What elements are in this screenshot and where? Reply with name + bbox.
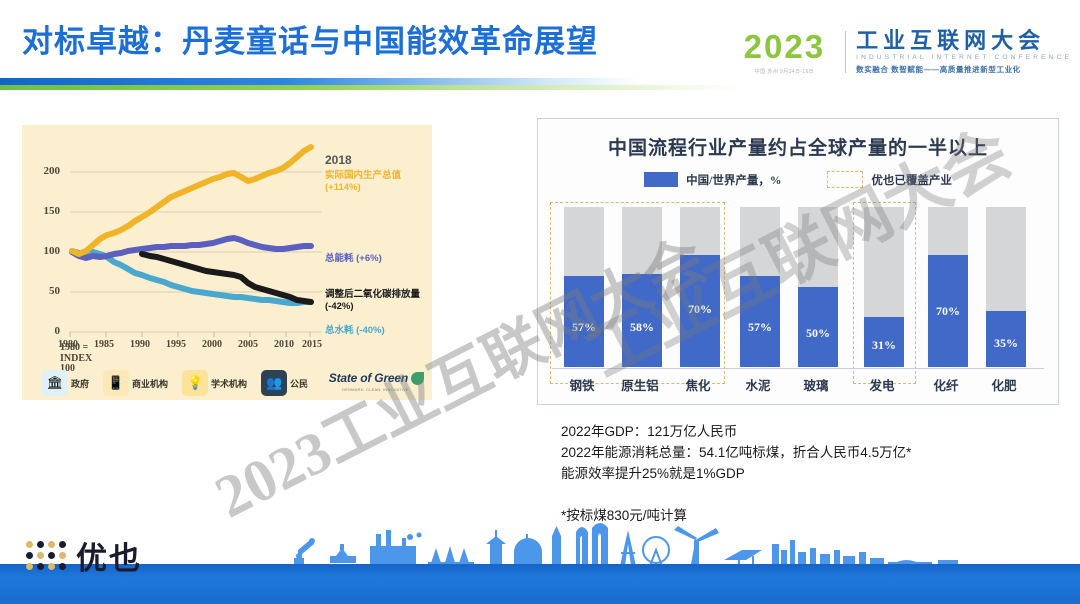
academic-icon: 💡: [182, 370, 208, 396]
category-label-fiber: 化纤: [921, 375, 971, 394]
x-tick-2005: 2005: [238, 339, 258, 350]
bar-value-cement: 57%: [740, 320, 780, 335]
bar-baseline: [552, 368, 1044, 369]
footer-wave-band: [0, 564, 1080, 604]
x-axis-ticks: [70, 332, 310, 337]
actor-academic: 💡 学术机构: [182, 370, 247, 396]
bar-value-aluminum: 58%: [622, 320, 662, 335]
x-tick-1990: 1990: [130, 339, 150, 350]
actor-business: 📱 商业机构: [103, 370, 168, 396]
bar-value-glass: 50%: [798, 326, 838, 341]
header-rule-green: [0, 85, 740, 90]
conference-logo-divider: [845, 31, 846, 73]
header-rule-blue: [0, 78, 640, 85]
legend-energy: 总能耗 (+6%): [325, 253, 382, 265]
conference-year: 2023: [744, 30, 825, 63]
series-energy: [72, 238, 311, 258]
conference-logo: 2023 中国·苏州 9月14日-16日 工业互联网大会 INDUSTRIAL …: [744, 24, 1072, 80]
x-tick-2015: 2015: [302, 339, 322, 350]
legend-gdp: 实际国内生产总值 (+114%): [325, 170, 401, 194]
category-label-power: 发电: [857, 375, 907, 394]
bar-value-fertilizer: 35%: [986, 336, 1026, 351]
notes-block: 2022年GDP：121万亿人民币 2022年能源消耗总量：54.1亿吨标煤，折…: [561, 422, 1031, 524]
conference-name-cn: 工业互联网大会: [856, 29, 1072, 52]
denmark-decoupling-chart: 200 150 100 50 0 1980 1985 1990 1995 200…: [22, 125, 432, 400]
x-tick-1985: 1985: [94, 339, 114, 350]
legend-gdp-label: 实际国内生产总值: [325, 170, 401, 181]
legend-co2: 调整后二氧化碳排放量 (-42%): [325, 289, 420, 313]
y-tick-200: 200: [32, 165, 60, 177]
actor-government: 🏛 政府: [42, 370, 89, 396]
x-tick-1995: 1995: [166, 339, 186, 350]
conference-name-en: INDUSTRIAL INTERNET CONFERENCE: [856, 54, 1072, 61]
bar-value-fiber: 70%: [928, 304, 968, 319]
dot-matrix-icon: [26, 541, 66, 570]
state-of-green-logo: State of Green: [329, 371, 424, 385]
end-year-label: 2018: [325, 153, 352, 167]
gridlines: [70, 172, 322, 332]
bar-value-steel: 57%: [564, 320, 604, 335]
actor-citizen-label: 公民: [290, 377, 308, 390]
category-label-fertilizer: 化肥: [979, 375, 1029, 394]
category-label-cement: 水泥: [733, 375, 783, 394]
slide-footer: 优也: [0, 520, 1080, 604]
note-efficiency: 能源效率提升25%就是1%GDP: [561, 464, 1031, 485]
legend-covered-label: 优也已覆盖产业: [871, 172, 952, 188]
legend-series-label: 中国/世界产量，%: [686, 172, 781, 188]
page-title: 对标卓越：丹麦童话与中国能效革命展望: [22, 16, 598, 61]
series-gdp: [72, 147, 311, 254]
bar-value-power: 31%: [864, 338, 904, 353]
y-tick-50: 50: [32, 285, 60, 297]
y-tick-150: 150: [32, 205, 60, 217]
x-tick-2010: 2010: [274, 339, 294, 350]
actor-citizen: 👥 公民: [261, 370, 308, 396]
government-icon: 🏛: [42, 370, 68, 396]
actor-business-label: 商业机构: [132, 377, 168, 390]
category-label-glass: 玻璃: [791, 375, 841, 394]
chart-title: 中国流程行业产量约占全球产量的一半以上: [538, 133, 1058, 160]
legend-swatch-blue: [644, 172, 678, 187]
conference-slogan: 数实融合 数智赋能——高质量推进新型工业化: [856, 64, 1072, 75]
youye-brand-name: 优也: [76, 533, 142, 578]
slide-header: 对标卓越：丹麦童话与中国能效革命展望 2023 中国·苏州 9月14日-16日 …: [0, 0, 1080, 100]
bar-plot-area: 57% 58% 70% 57% 50% 31%: [560, 207, 1038, 367]
y-tick-0: 0: [32, 325, 60, 337]
legend-item-covered: 优也已覆盖产业: [827, 171, 952, 188]
conference-year-subtitle: 中国·苏州 9月14日-16日: [755, 68, 815, 75]
leaf-icon: [411, 372, 424, 385]
business-icon: 📱: [103, 370, 129, 396]
actor-academic-label: 学术机构: [211, 377, 247, 390]
china-output-share-chart: 中国流程行业产量约占全球产量的一半以上 中国/世界产量，% 优也已覆盖产业 57…: [537, 118, 1059, 405]
bar-value-coking: 70%: [680, 302, 720, 317]
y-tick-100: 100: [32, 245, 60, 257]
legend-dashed-box-icon: [827, 171, 863, 188]
legend-gdp-change: (+114%): [325, 182, 361, 193]
state-of-green-name: State of Green: [329, 371, 408, 385]
note-gdp: 2022年GDP：121万亿人民币: [561, 422, 1031, 443]
legend-item-series: 中国/世界产量，%: [644, 171, 781, 188]
actor-government-label: 政府: [71, 377, 89, 390]
category-label-coking: 焦化: [673, 375, 723, 394]
note-energy: 2022年能源消耗总量：54.1亿吨标煤，折合人民币4.5万亿*: [561, 443, 1031, 464]
conference-text-block: 工业互联网大会 INDUSTRIAL INTERNET CONFERENCE 数…: [856, 29, 1072, 75]
category-label-steel: 钢铁: [557, 375, 607, 394]
chart-legend: 中国/世界产量，% 优也已覆盖产业: [538, 171, 1058, 188]
state-of-green-tagline: DENMARK. CLEAN. INNOVATIVE.: [342, 387, 410, 392]
citizen-icon: 👥: [261, 370, 287, 396]
youye-logo: 优也: [26, 533, 142, 578]
legend-water: 总水耗 (-40%): [325, 325, 385, 337]
x-tick-2000: 2000: [202, 339, 222, 350]
category-label-aluminum: 原生铝: [615, 375, 665, 394]
city-skyline-icon: [290, 522, 1010, 566]
conference-year-block: 2023 中国·苏州 9月14日-16日: [744, 30, 835, 75]
